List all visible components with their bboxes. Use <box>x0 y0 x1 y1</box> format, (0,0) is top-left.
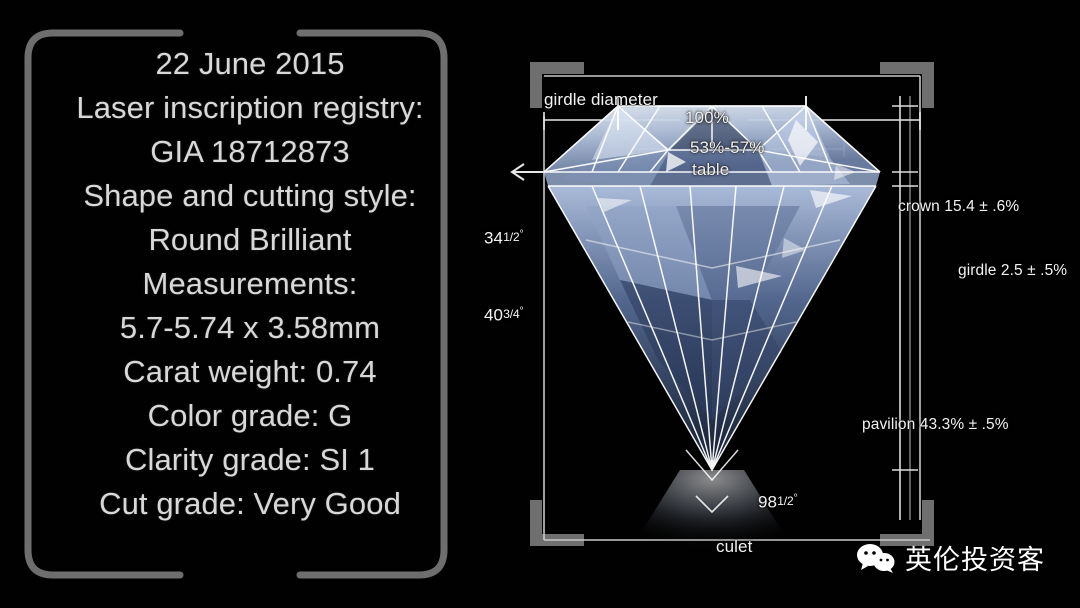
cert-line-shape-label: Shape and cutting style: <box>83 174 416 218</box>
cert-line-clarity-grade: Clarity grade: SI 1 <box>125 438 375 482</box>
label-culet: culet <box>716 537 752 557</box>
depth-dimension-line <box>892 96 918 520</box>
angle-arrow-icon <box>512 164 544 180</box>
pavilion-angle-fraction: 3/4 <box>503 307 519 321</box>
certificate-panel: 22 June 2015 Laser inscription registry:… <box>0 0 500 608</box>
cert-line-gia-number: GIA 18712873 <box>150 130 349 174</box>
pavilion-angle-whole: 40 <box>484 306 503 325</box>
crown-angle-degree: ° <box>520 228 524 240</box>
crown-angle-whole: 34 <box>484 229 503 248</box>
cert-line-measurements-value: 5.7-5.74 x 3.58mm <box>120 306 380 350</box>
watermark-text: 英伦投资客 <box>905 538 1045 577</box>
cert-line-laser-label: Laser inscription registry: <box>76 86 423 130</box>
label-pavilion-percentage: pavilion 43.3% ± .5% <box>862 416 1009 434</box>
cert-line-shape-value: Round Brilliant <box>148 218 351 262</box>
pavilion-angle-degree: ° <box>520 305 524 317</box>
cert-line-date: 22 June 2015 <box>155 42 344 86</box>
culet-angle-degree: ° <box>794 492 798 504</box>
cert-line-cut-grade: Cut grade: Very Good <box>99 482 401 526</box>
culet-angle-whole: 98 <box>758 493 777 512</box>
certificate-text-block: 22 June 2015 Laser inscription registry:… <box>32 42 468 566</box>
cert-line-color-grade: Color grade: G <box>148 394 353 438</box>
label-table-range: 53%-57% <box>690 138 764 158</box>
label-girdle-percentage: girdle 2.5 ± .5% <box>958 262 1067 280</box>
label-full-width-percent: 100% <box>685 108 729 128</box>
cert-line-measurements-label: Measurements: <box>143 262 358 306</box>
label-crown-angle: 341/2° <box>484 228 524 249</box>
label-pavilion-angle: 403/4° <box>484 305 524 326</box>
diamond-diagram: girdle diameter 100% 53%-57% table crown… <box>500 0 1080 608</box>
wechat-icon <box>856 543 896 573</box>
label-culet-angle: 981/2° <box>758 492 798 513</box>
label-table: table <box>692 160 729 180</box>
label-crown-percentage: crown 15.4 ± .6% <box>898 198 1019 216</box>
label-girdle-diameter: girdle diameter <box>544 90 658 110</box>
culet-angle-fraction: 1/2 <box>777 494 793 508</box>
culet-light-beam <box>624 470 800 560</box>
watermark: 英伦投资客 <box>856 538 1045 577</box>
screenshot-stage: 22 June 2015 Laser inscription registry:… <box>0 0 1080 608</box>
crown-angle-fraction: 1/2 <box>503 230 519 244</box>
cert-line-carat-weight: Carat weight: 0.74 <box>123 350 376 394</box>
